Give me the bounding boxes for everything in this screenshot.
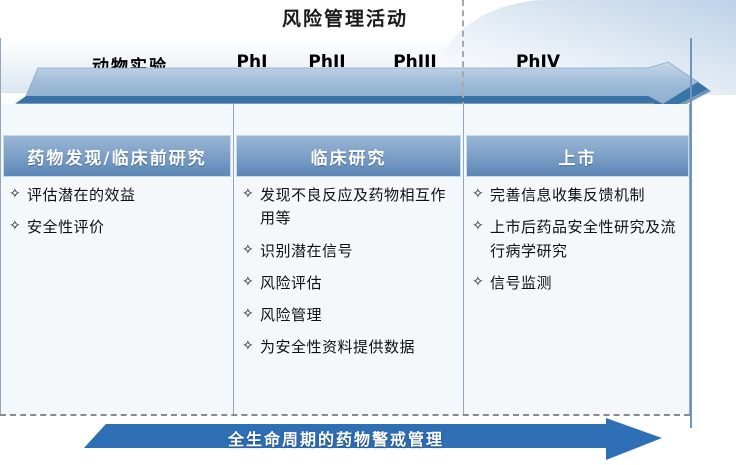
- column-bullet-list-1: ✧评估潜在的效益✧安全性评价: [9, 184, 227, 249]
- phase-columns-table: 药物发现/临床前研究✧评估潜在的效益✧安全性评价临床研究✧发现不良反应及药物相互…: [0, 104, 690, 415]
- list-item-text: 完善信息收集反馈机制: [490, 184, 685, 207]
- list-item-text: 风险评估: [260, 272, 457, 295]
- column-header-3: 上市: [466, 135, 689, 177]
- phase-column-3: 上市✧完善信息收集反馈机制✧上市后药品安全性研究及流行病学研究✧信号监测: [464, 104, 691, 415]
- list-item-text: 识别潜在信号: [260, 240, 457, 263]
- list-item-text: 发现不良反应及药物相互作用等: [260, 184, 457, 231]
- diamond-bullet-icon: ✧: [472, 272, 490, 294]
- list-item: ✧风险评估: [242, 272, 457, 295]
- phase-column-2: 临床研究✧发现不良反应及药物相互作用等✧识别潜在信号✧风险评估✧风险管理✧为安全…: [234, 104, 463, 415]
- list-item: ✧上市后药品安全性研究及流行病学研究: [472, 216, 685, 263]
- list-item: ✧风险管理: [242, 304, 457, 327]
- list-item-text: 评估潜在的效益: [27, 184, 227, 207]
- diamond-bullet-icon: ✧: [472, 184, 490, 206]
- table-bottom-dashed-line: [0, 414, 690, 416]
- diagram-canvas: 风险管理活动 动物实验PhIPhIIPhIIIPhIV 上市批准 药物发现/: [0, 0, 736, 465]
- column-header-1: 药物发现/临床前研究: [3, 135, 231, 177]
- list-item: ✧信号监测: [472, 272, 685, 295]
- list-item: ✧识别潜在信号: [242, 240, 457, 263]
- list-item-text: 安全性评价: [27, 216, 227, 239]
- list-item: ✧评估潜在的效益: [9, 184, 227, 207]
- diamond-bullet-icon: ✧: [242, 272, 260, 294]
- page-title: 风险管理活动: [0, 4, 690, 31]
- diamond-bullet-icon: ✧: [9, 184, 27, 206]
- list-item: ✧为安全性资料提供数据: [242, 336, 457, 359]
- phase-column-1: 药物发现/临床前研究✧评估潜在的效益✧安全性评价: [1, 104, 233, 415]
- list-item-text: 风险管理: [260, 304, 457, 327]
- diamond-bullet-icon: ✧: [242, 184, 260, 206]
- column-header-2: 临床研究: [236, 135, 461, 177]
- column-bullet-list-3: ✧完善信息收集反馈机制✧上市后药品安全性研究及流行病学研究✧信号监测: [472, 184, 685, 304]
- diamond-bullet-icon: ✧: [9, 216, 27, 238]
- diamond-bullet-icon: ✧: [472, 216, 490, 238]
- list-item-text: 上市后药品安全性研究及流行病学研究: [490, 216, 685, 263]
- approval-divider-line: [462, 0, 464, 108]
- diamond-bullet-icon: ✧: [242, 240, 260, 262]
- diamond-bullet-icon: ✧: [242, 336, 260, 358]
- list-item-text: 信号监测: [490, 272, 685, 295]
- list-item-text: 为安全性资料提供数据: [260, 336, 457, 359]
- column-bullet-list-2: ✧发现不良反应及药物相互作用等✧识别潜在信号✧风险评估✧风险管理✧为安全性资料提…: [242, 184, 457, 369]
- list-item: ✧发现不良反应及药物相互作用等: [242, 184, 457, 231]
- diamond-bullet-icon: ✧: [242, 304, 260, 326]
- right-edge-line: [690, 38, 692, 428]
- list-item: ✧安全性评价: [9, 216, 227, 239]
- lifecycle-arrow: [46, 418, 686, 463]
- list-item: ✧完善信息收集反馈机制: [472, 184, 685, 207]
